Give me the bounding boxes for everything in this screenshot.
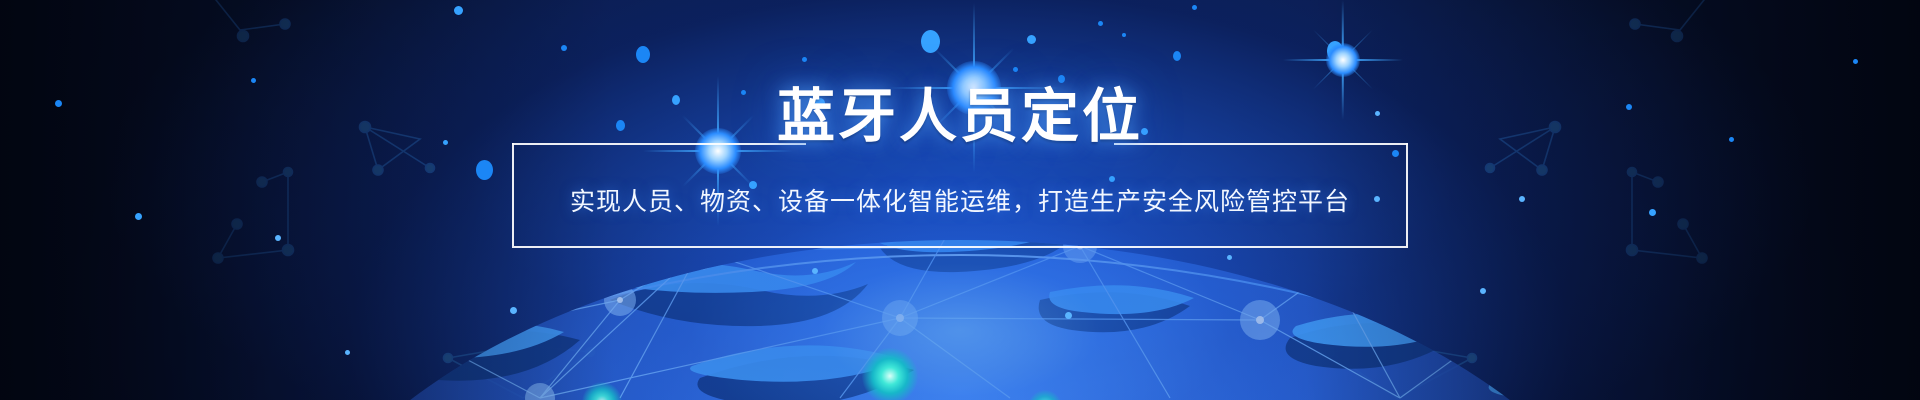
floating-dot — [1192, 5, 1197, 10]
floating-dot — [1480, 288, 1486, 294]
floating-dot — [1173, 51, 1181, 61]
floating-dot — [1058, 75, 1065, 83]
hero-banner: 蓝牙人员定位 实现人员、物资、设备一体化智能运维，打造生产安全风险管控平台 — [0, 0, 1920, 400]
floating-dot — [1853, 59, 1858, 64]
floating-dot — [1027, 35, 1036, 44]
floating-dot — [636, 46, 650, 63]
floating-dot — [1227, 255, 1232, 260]
floating-dot — [1013, 67, 1018, 72]
floating-dot — [510, 307, 517, 314]
floating-dot — [1122, 33, 1126, 37]
floating-dot — [345, 350, 350, 355]
floating-dot — [251, 78, 256, 83]
floating-dot — [802, 57, 807, 62]
floating-dot — [454, 6, 463, 15]
floating-dot — [1327, 41, 1343, 61]
floating-dot — [1065, 312, 1072, 319]
floating-dot — [275, 235, 281, 241]
floating-dot — [812, 268, 818, 274]
floating-dot — [561, 45, 567, 51]
floating-dot — [476, 160, 493, 180]
floating-dot — [1098, 21, 1103, 26]
floating-dot — [921, 30, 940, 53]
page-subtitle: 实现人员、物资、设备一体化智能运维，打造生产安全风险管控平台 — [0, 190, 1920, 215]
page-title: 蓝牙人员定位 — [0, 88, 1920, 146]
